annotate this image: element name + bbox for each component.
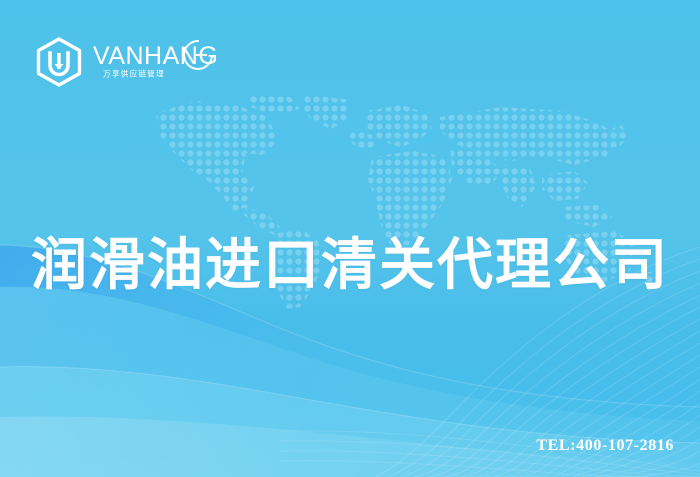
logo-g-bar-icon — [195, 54, 207, 56]
logo-wordmark-block: VANHANG 万享供应链管理 — [93, 36, 209, 88]
logo-subtitle: 万享供应链管理 — [103, 69, 165, 80]
page-title: 润滑油进口清关代理公司 — [0, 234, 700, 296]
promo-banner: VANHANG 万享供应链管理 润滑油进口清关代理公司 TEL:400-107-… — [0, 0, 700, 477]
brand-logo: VANHANG 万享供应链管理 — [33, 36, 209, 88]
hexagon-u-logo-icon — [33, 36, 85, 88]
contact-phone: TEL:400-107-2816 — [536, 437, 674, 455]
